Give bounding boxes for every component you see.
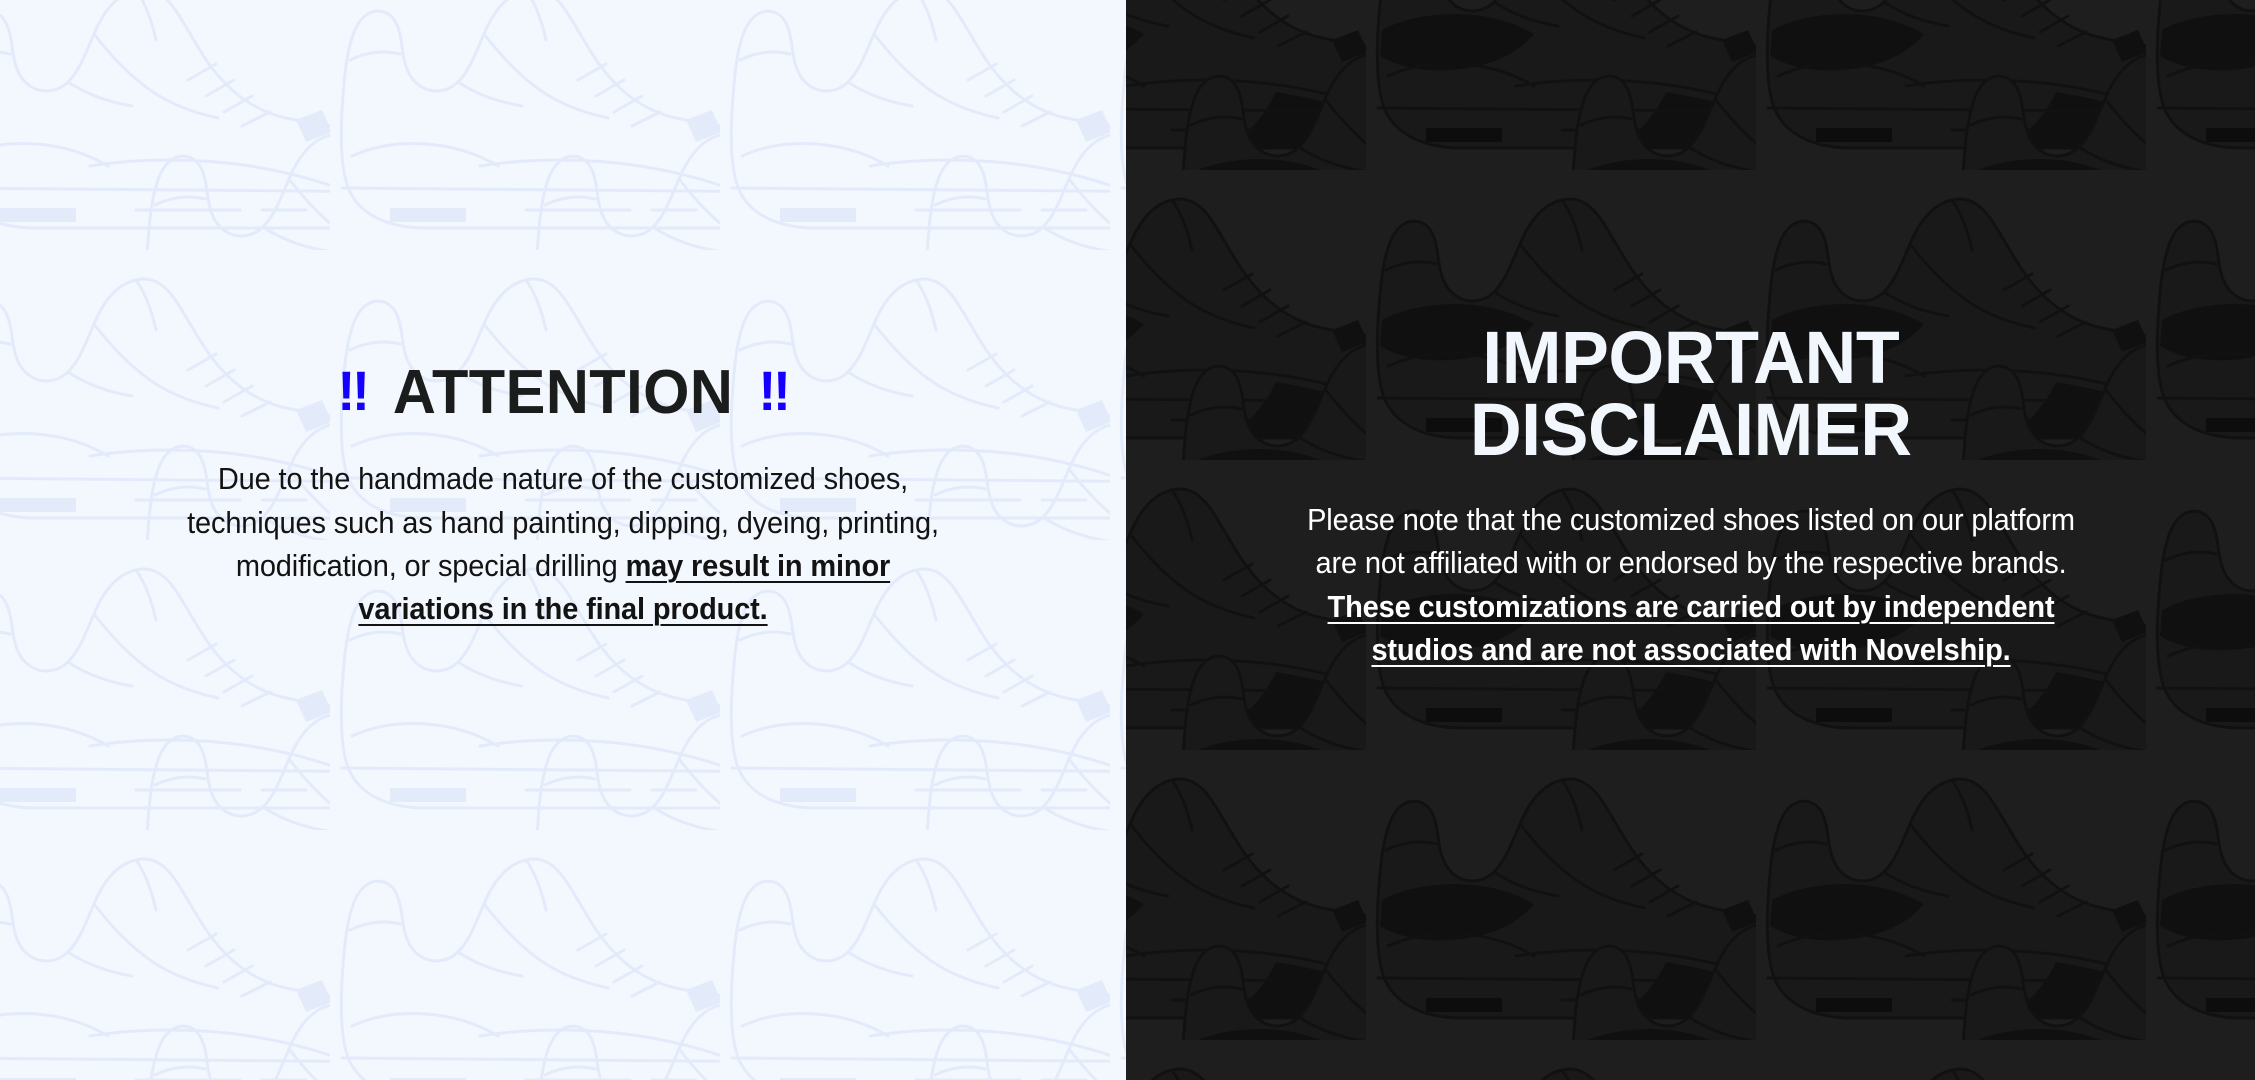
- disclaimer-heading: IMPORTANT DISCLAIMER: [1470, 322, 1912, 467]
- attention-panel: ‼ ATTENTION ‼ Due to the handmade nature…: [0, 0, 1126, 1080]
- disclaimer-content: IMPORTANT DISCLAIMER Please note that th…: [1126, 0, 2255, 1080]
- double-exclamation-right-icon: ‼: [758, 363, 789, 419]
- disclaimer-heading-line1: IMPORTANT: [1470, 322, 1912, 395]
- disclaimer-body-normal: Please note that the customized shoes li…: [1307, 503, 2075, 580]
- disclaimer-body-emphasis: These customizations are carried out by …: [1327, 590, 2054, 667]
- disclaimer-body: Please note that the customized shoes li…: [1292, 499, 2090, 672]
- attention-content: ‼ ATTENTION ‼ Due to the handmade nature…: [0, 0, 1126, 1080]
- double-exclamation-left-icon: ‼: [337, 363, 368, 419]
- attention-heading: ‼ ATTENTION ‼: [337, 362, 789, 424]
- split-banner: ‼ ATTENTION ‼ Due to the handmade nature…: [0, 0, 2255, 1080]
- disclaimer-heading-line2: DISCLAIMER: [1470, 394, 1912, 467]
- attention-body: Due to the handmade nature of the custom…: [174, 458, 953, 631]
- disclaimer-panel: IMPORTANT DISCLAIMER Please note that th…: [1126, 0, 2255, 1080]
- attention-heading-text: ATTENTION: [393, 362, 733, 424]
